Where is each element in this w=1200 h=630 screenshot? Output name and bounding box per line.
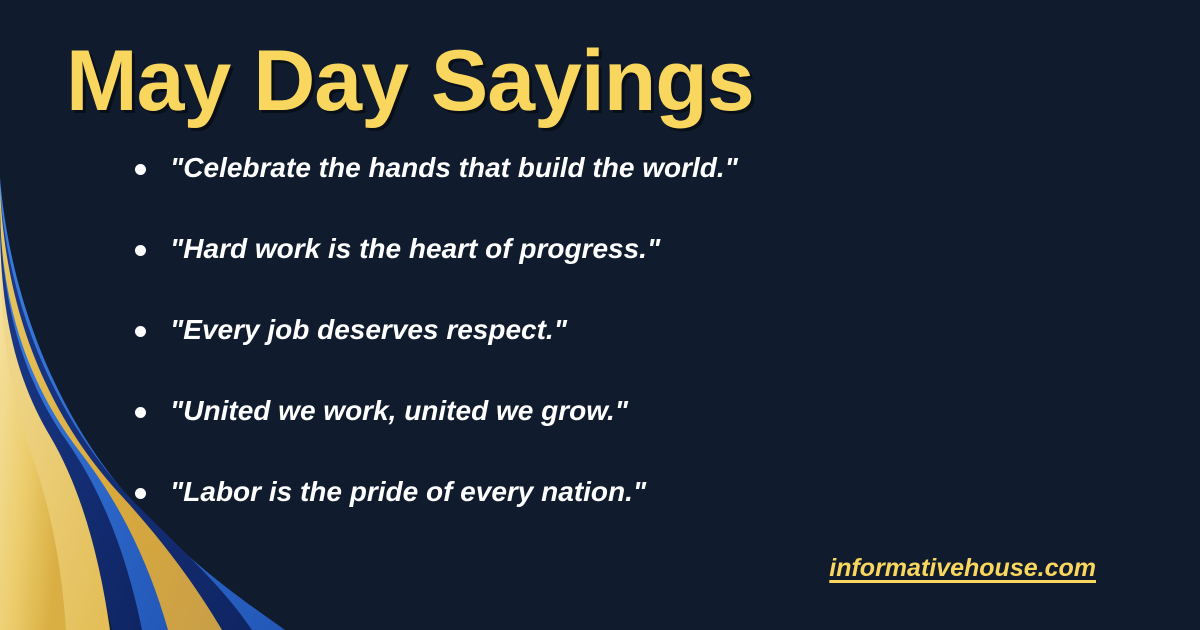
website-link[interactable]: informativehouse.com: [829, 554, 1096, 583]
list-item: "Labor is the pride of every nation.": [130, 476, 1130, 557]
quote-text: "United we work, united we grow.": [170, 395, 628, 427]
list-item: "Every job deserves respect.": [130, 314, 1130, 395]
quote-text: "Labor is the pride of every nation.": [170, 476, 646, 508]
bullet-dot-icon: [135, 164, 146, 175]
bullet-dot-icon: [135, 488, 146, 499]
quote-text: "Celebrate the hands that build the worl…: [170, 152, 738, 184]
list-item: "Celebrate the hands that build the worl…: [130, 152, 1130, 233]
quote-text: "Hard work is the heart of progress.": [170, 233, 660, 265]
list-item: "United we work, united we grow.": [130, 395, 1130, 476]
quote-text: "Every job deserves respect.": [170, 314, 567, 346]
list-item: "Hard work is the heart of progress.": [130, 233, 1130, 314]
bullet-dot-icon: [135, 245, 146, 256]
bullet-dot-icon: [135, 407, 146, 418]
page-title: May Day Sayings: [66, 38, 754, 124]
bullet-dot-icon: [135, 326, 146, 337]
poster-canvas: May Day Sayings "Celebrate the hands tha…: [0, 0, 1200, 630]
quote-list: "Celebrate the hands that build the worl…: [130, 152, 1130, 557]
